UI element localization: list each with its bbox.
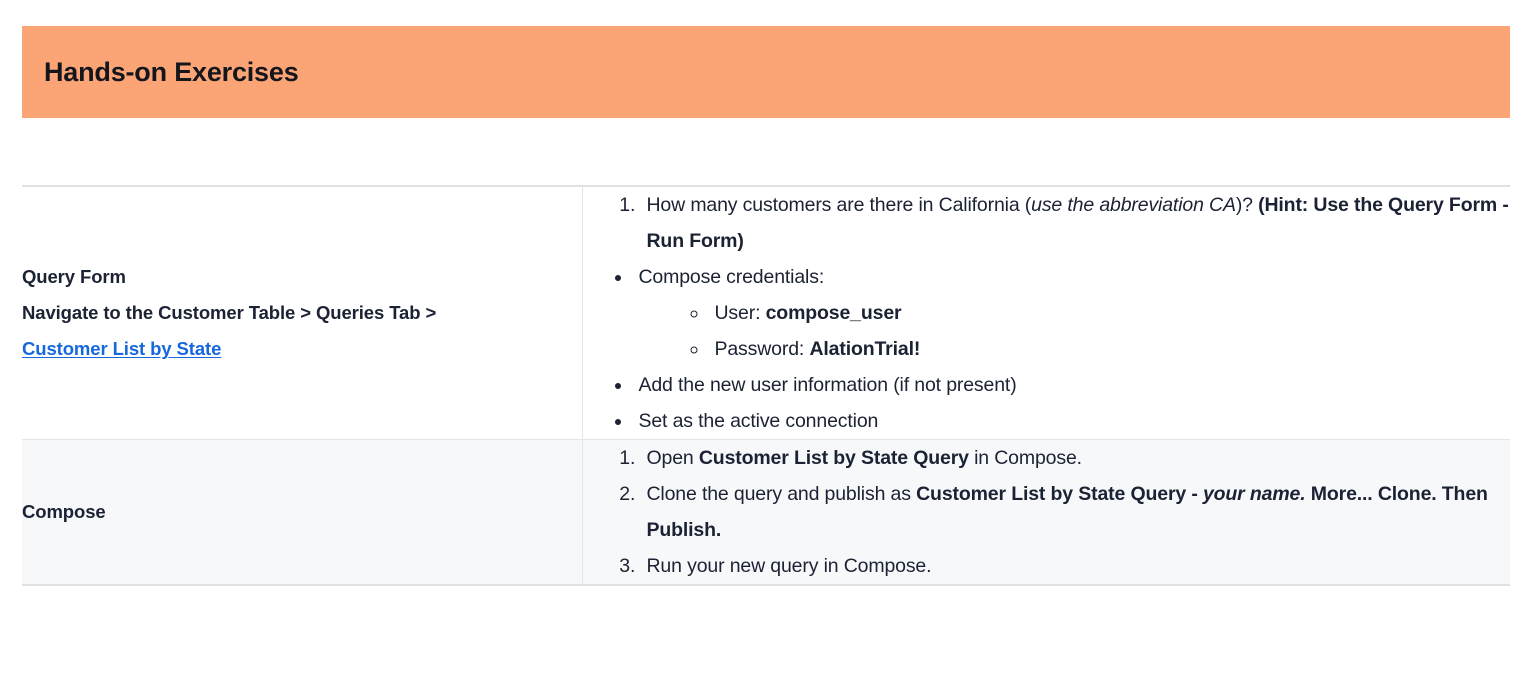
row-label-line-3: Customer List by State xyxy=(22,331,582,367)
row-body-cell: How many customers are there in Californ… xyxy=(582,186,1510,440)
list-item: Compose credentials: User: compose_user … xyxy=(633,259,1511,367)
row-label-cell: Compose xyxy=(22,440,582,586)
exercises-table: Query Form Navigate to the Customer Tabl… xyxy=(22,185,1510,586)
instructions-list: Open Customer List by State Query in Com… xyxy=(583,440,1511,584)
row-label-line-1: Query Form xyxy=(22,259,582,295)
bulleted-sublist: Compose credentials: User: compose_user … xyxy=(583,259,1511,439)
row-label-cell: Query Form Navigate to the Customer Tabl… xyxy=(22,186,582,440)
list-item: Set as the active connection xyxy=(633,403,1511,439)
list-item: Clone the query and publish as Customer … xyxy=(641,476,1511,548)
customer-list-by-state-link[interactable]: Customer List by State xyxy=(22,338,221,359)
list-item-text: Run your new query in Compose. xyxy=(647,555,932,577)
credentials-sublist: User: compose_user Password: AlationTria… xyxy=(639,295,1511,367)
table-row: Query Form Navigate to the Customer Tabl… xyxy=(22,186,1510,440)
list-item-text: Add the new user information (if not pre… xyxy=(639,374,1017,396)
list-item: Compose credentials: User: compose_user … xyxy=(583,259,1511,439)
list-item-password: Password: AlationTrial! xyxy=(709,331,1511,367)
list-item-user: User: compose_user xyxy=(709,295,1511,331)
list-item-text: Clone the query and publish as Customer … xyxy=(647,483,1488,541)
list-item-text: Open Customer List by State Query in Com… xyxy=(647,447,1082,469)
row-label-line-2: Navigate to the Customer Table > Queries… xyxy=(22,295,582,331)
list-item: How many customers are there in Californ… xyxy=(641,187,1511,259)
instructions-list: How many customers are there in Californ… xyxy=(583,187,1511,439)
row-label-line-1: Compose xyxy=(22,494,582,530)
exercises-table-body: Query Form Navigate to the Customer Tabl… xyxy=(22,186,1510,585)
list-item-text: Password: AlationTrial! xyxy=(715,338,921,360)
list-item: Add the new user information (if not pre… xyxy=(633,367,1511,403)
list-item-text: User: compose_user xyxy=(715,302,902,324)
list-item: How many customers are there in Californ… xyxy=(583,187,1511,259)
row-body-cell: Open Customer List by State Query in Com… xyxy=(582,440,1510,586)
list-item: Run your new query in Compose. xyxy=(641,548,1511,584)
numbered-sublist: How many customers are there in Californ… xyxy=(583,187,1511,259)
page-title: Hands-on Exercises xyxy=(22,57,299,88)
list-item-text: How many customers are there in Californ… xyxy=(647,194,1509,252)
list-item-text: Compose credentials: xyxy=(639,266,825,288)
page-banner: Hands-on Exercises xyxy=(22,26,1510,118)
row-label-block: Query Form Navigate to the Customer Tabl… xyxy=(22,259,582,367)
list-item: Open Customer List by State Query in Com… xyxy=(641,440,1511,476)
row-label-block: Compose xyxy=(22,494,582,530)
table-row: Compose Open Customer List by State Quer… xyxy=(22,440,1510,586)
list-item-text: Set as the active connection xyxy=(639,410,879,432)
